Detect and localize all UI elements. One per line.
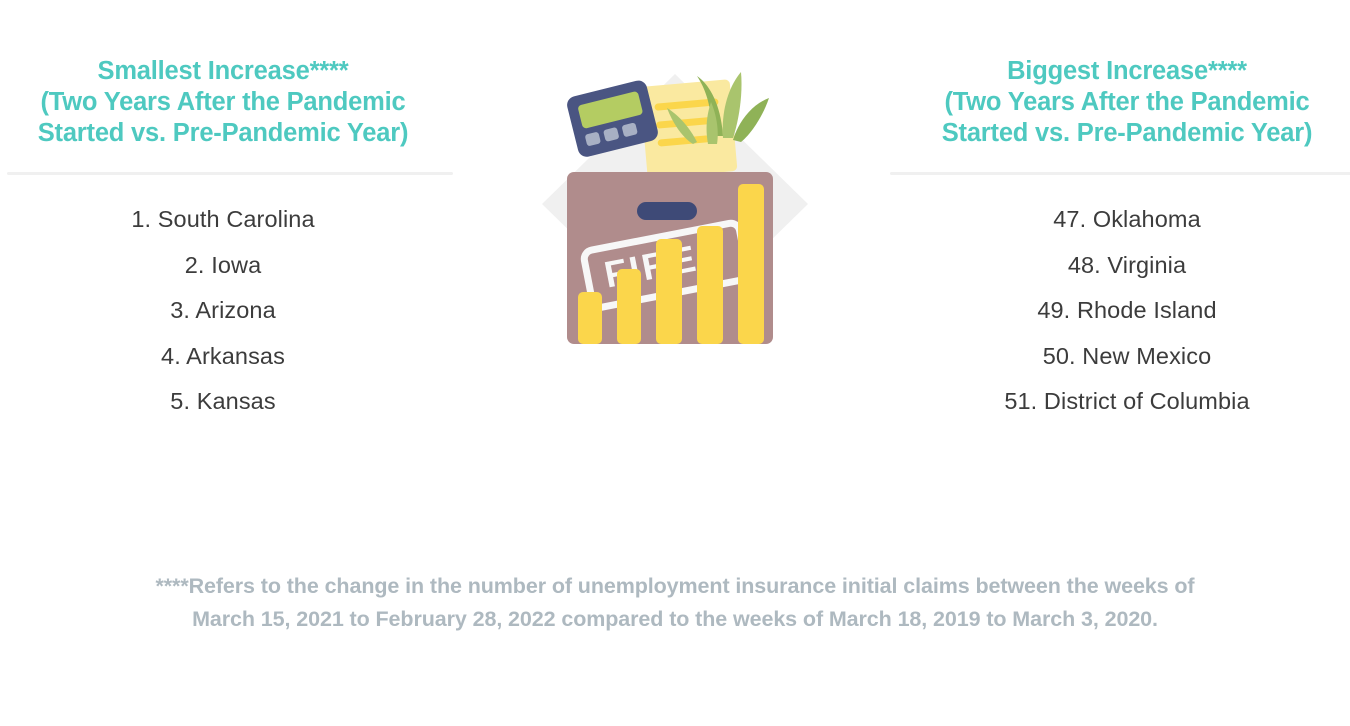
list-item: 3. Arizona — [0, 288, 446, 334]
list-item: 2. Iowa — [0, 243, 446, 289]
list-item: 47. Oklahoma — [904, 197, 1350, 243]
list-item: 50. New Mexico — [904, 334, 1350, 380]
box-handle-icon — [637, 202, 697, 220]
biggest-increase-panel: Biggest Increase**** (Two Years After th… — [890, 0, 1350, 425]
heading-line-1: Smallest Increase**** — [98, 57, 349, 85]
biggest-increase-list: 47. Oklahoma 48. Virginia 49. Rhode Isla… — [904, 197, 1350, 425]
list-item: 1. South Carolina — [0, 197, 446, 243]
illustration-column: FIRED — [460, 0, 890, 344]
fired-box-illustration: FIRED — [525, 54, 825, 344]
smallest-increase-list: 1. South Carolina 2. Iowa 3. Arizona 4. … — [0, 197, 446, 425]
bar — [697, 226, 723, 344]
heading-line-1: Biggest Increase**** — [1007, 57, 1247, 85]
bar — [617, 269, 641, 344]
footnote: ****Refers to the change in the number o… — [0, 570, 1350, 637]
panels-row: Smallest Increase**** (Two Years After t… — [0, 0, 1350, 520]
infographic-root: Smallest Increase**** (Two Years After t… — [0, 0, 1350, 726]
list-item: 5. Kansas — [0, 379, 446, 425]
heading-divider-right — [890, 172, 1350, 175]
list-item: 4. Arkansas — [0, 334, 446, 380]
smallest-increase-heading: Smallest Increase**** (Two Years After t… — [0, 56, 446, 149]
list-item: 51. District of Columbia — [904, 379, 1350, 425]
heading-divider-left — [7, 172, 453, 175]
bar — [578, 292, 602, 344]
list-item: 49. Rhode Island — [904, 288, 1350, 334]
smallest-increase-panel: Smallest Increase**** (Two Years After t… — [0, 0, 460, 425]
bar — [656, 239, 682, 344]
footnote-line-2: March 15, 2021 to February 28, 2022 comp… — [0, 603, 1350, 636]
footnote-line-1: ****Refers to the change in the number o… — [0, 570, 1350, 603]
bar — [738, 184, 764, 344]
heading-line-3: Started vs. Pre-Pandemic Year) — [38, 119, 409, 147]
list-item: 48. Virginia — [904, 243, 1350, 289]
biggest-increase-heading: Biggest Increase**** (Two Years After th… — [904, 56, 1350, 149]
heading-line-3: Started vs. Pre-Pandemic Year) — [942, 119, 1313, 147]
heading-line-2: (Two Years After the Pandemic — [40, 88, 405, 116]
heading-line-2: (Two Years After the Pandemic — [944, 88, 1309, 116]
